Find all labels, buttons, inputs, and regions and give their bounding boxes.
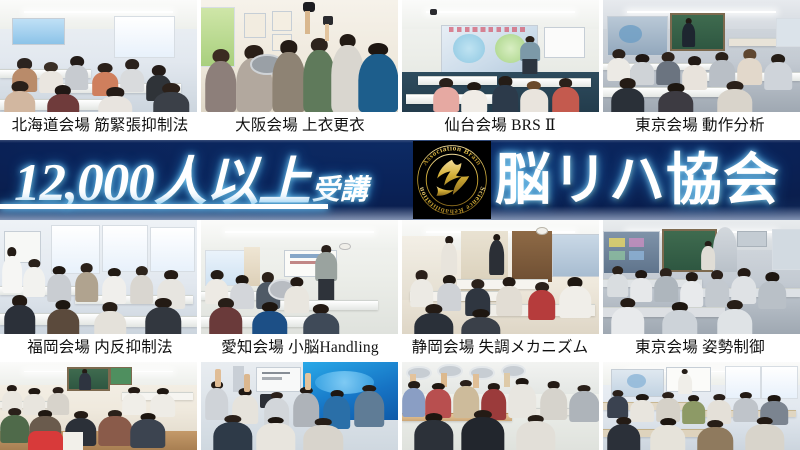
caption-venue: 福岡会場: [27, 339, 90, 356]
brain-science-rehabilitation-association-logo: Association Brain Science Rehabilitation: [413, 141, 491, 219]
photo-tokyo-shisei: [603, 220, 800, 334]
caption-venue: 東京会場: [635, 339, 698, 356]
caption-topic: 姿勢制御: [702, 339, 765, 356]
photo-hokkaido: [0, 0, 197, 112]
banner-left-text: 12,000人以上 受講: [14, 148, 406, 212]
caption-venue: 仙台会場: [444, 117, 507, 134]
photo-row-bottom: [0, 362, 800, 450]
photo-osaka: [201, 0, 398, 112]
caption-topic: 動作分析: [702, 117, 765, 134]
banner-underline: [0, 204, 328, 209]
caption-topic: BRS Ⅱ: [511, 117, 556, 134]
caption-topic: 内反抑制法: [94, 339, 173, 356]
photo-seminar-audience: [0, 362, 197, 450]
photo-row-middle: [0, 220, 800, 334]
photo-workshop-hands-raised: [201, 362, 398, 450]
caption-venue: 北海道会場: [12, 117, 91, 134]
center-banner: 12,000人以上 受講 脳リハ協会: [0, 140, 800, 220]
caption-band-middle: 福岡会場 内反抑制法 愛知会場 小脳Handling 静岡会場 失調メカニズム …: [0, 334, 800, 362]
caption-topic: 筋緊張抑制法: [94, 117, 188, 134]
caption-osaka: 大阪会場 上衣更衣: [200, 118, 400, 134]
photo-fukuoka: [0, 220, 197, 334]
caption-venue: 静岡会場: [412, 339, 475, 356]
poster-canvas: 北海道会場 筋緊張抑制法 大阪会場 上衣更衣 仙台会場 BRS Ⅱ 東京会場 動…: [0, 0, 800, 450]
caption-band-top: 北海道会場 筋緊張抑制法 大阪会場 上衣更衣 仙台会場 BRS Ⅱ 東京会場 動…: [0, 112, 800, 140]
caption-topic: 失調メカニズム: [478, 339, 588, 356]
caption-sendai: 仙台会場 BRS Ⅱ: [400, 118, 600, 134]
caption-aichi: 愛知会場 小脳Handling: [200, 340, 400, 356]
caption-venue: 東京会場: [635, 117, 698, 134]
photo-workshop-group-standing: [402, 362, 599, 450]
photo-lecture-projector-audience: [603, 362, 800, 450]
caption-hokkaido: 北海道会場 筋緊張抑制法: [0, 118, 200, 134]
organization-title: 脳リハ協会: [495, 153, 780, 209]
photo-tokyo-dousa: [603, 0, 800, 112]
banner-right-text: 脳リハ協会: [495, 146, 795, 216]
caption-tokyo-dousa: 東京会場 動作分析: [600, 118, 800, 134]
caption-tokyo-shisei: 東京会場 姿勢制御: [600, 340, 800, 356]
photo-row-top: [0, 0, 800, 112]
caption-shizuoka: 静岡会場 失調メカニズム: [400, 340, 600, 356]
caption-venue: 大阪会場: [235, 117, 298, 134]
photo-aichi: [201, 220, 398, 334]
caption-fukuoka: 福岡会場 内反抑制法: [0, 340, 200, 356]
photo-shizuoka: [402, 220, 599, 334]
caption-topic: 小脳Handling: [288, 339, 379, 356]
photo-sendai: [402, 0, 599, 112]
caption-topic: 上衣更衣: [302, 117, 365, 134]
caption-venue: 愛知会場: [221, 339, 284, 356]
